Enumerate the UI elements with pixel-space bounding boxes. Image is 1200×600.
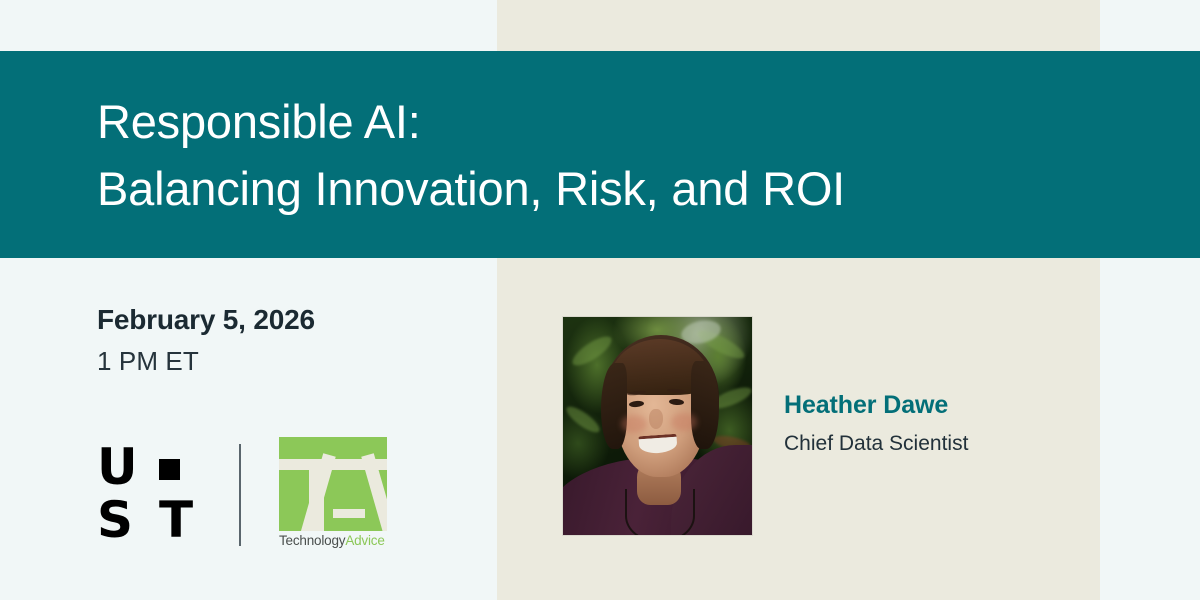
speaker-job-title: Chief Data Scientist [784, 431, 1124, 456]
logo-row: U S T TechnologyAdvice [97, 437, 387, 552]
ta-wordmark-technology: Technology [279, 533, 345, 548]
ust-logo: U S T [97, 440, 209, 550]
speaker-photo [563, 317, 752, 535]
webinar-title: Responsible AI: Balancing Innovation, Ri… [97, 89, 1117, 222]
logo-divider [239, 444, 241, 546]
event-time: 1 PM ET [97, 346, 477, 377]
event-datetime-block: February 5, 2026 1 PM ET [97, 303, 477, 377]
event-date: February 5, 2026 [97, 303, 477, 337]
ta-monogram-icon [279, 437, 387, 531]
ust-letter-t: T [159, 495, 192, 545]
webinar-promo-card: Responsible AI: Balancing Innovation, Ri… [0, 0, 1200, 600]
ta-wordmark: TechnologyAdvice [279, 533, 391, 548]
ust-letter-s: S [97, 495, 132, 545]
technologyadvice-logo: TechnologyAdvice [279, 437, 387, 552]
ta-wordmark-advice: Advice [345, 533, 384, 548]
ust-square-dot-icon [159, 459, 180, 480]
speaker-info-block: Heather Dawe Chief Data Scientist [784, 390, 1124, 456]
ust-letter-u: U [97, 442, 137, 492]
title-banner: Responsible AI: Balancing Innovation, Ri… [0, 51, 1200, 258]
speaker-name: Heather Dawe [784, 390, 1124, 420]
